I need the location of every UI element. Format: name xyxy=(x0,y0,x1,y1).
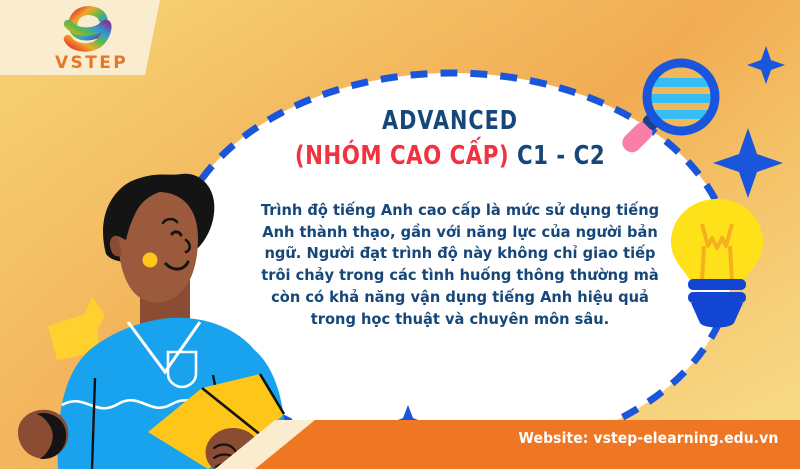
poster-canvas: VSTEP xyxy=(0,0,800,469)
vstep-wordmark: VSTEP xyxy=(55,53,128,73)
website-label: Website: vstep-elearning.edu.vn xyxy=(518,429,778,447)
